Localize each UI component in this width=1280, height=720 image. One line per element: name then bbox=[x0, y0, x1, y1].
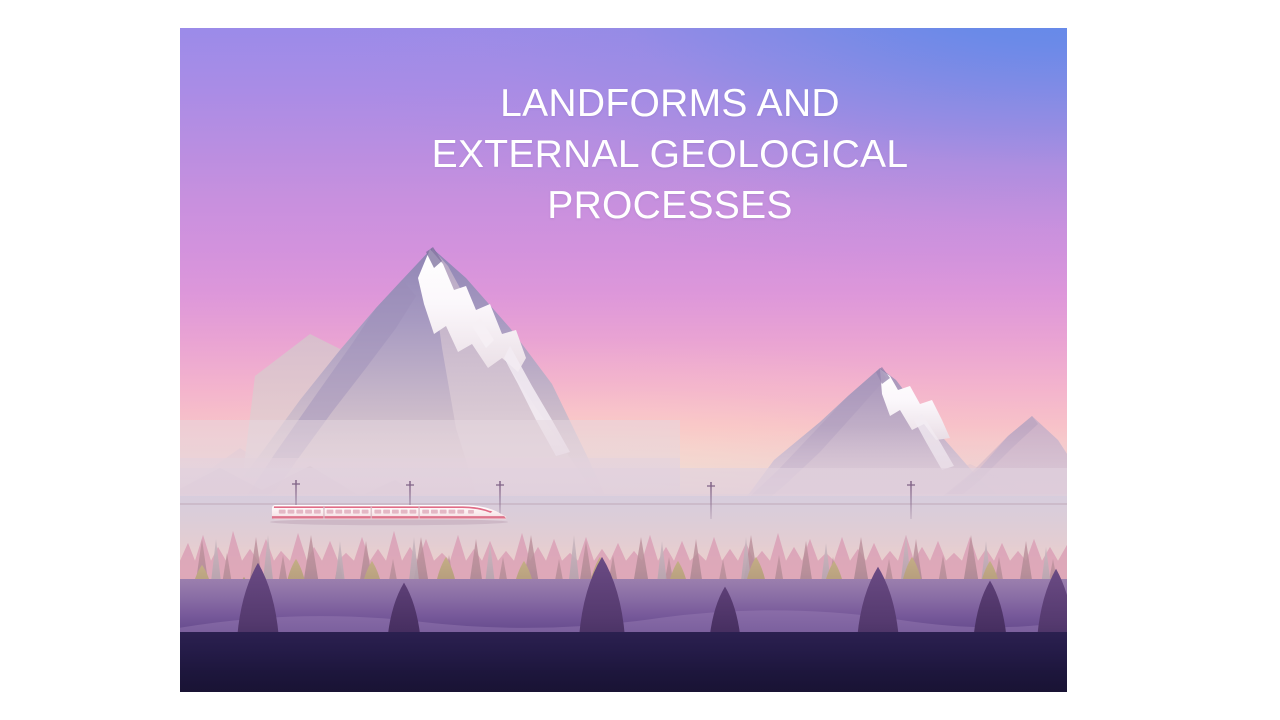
ground-foreground-dark bbox=[180, 632, 1067, 692]
slide-canvas: LANDFORMS AND EXTERNAL GEOLOGICAL PROCES… bbox=[0, 0, 1280, 720]
page-title: LANDFORMS AND EXTERNAL GEOLOGICAL PROCES… bbox=[320, 78, 1020, 231]
